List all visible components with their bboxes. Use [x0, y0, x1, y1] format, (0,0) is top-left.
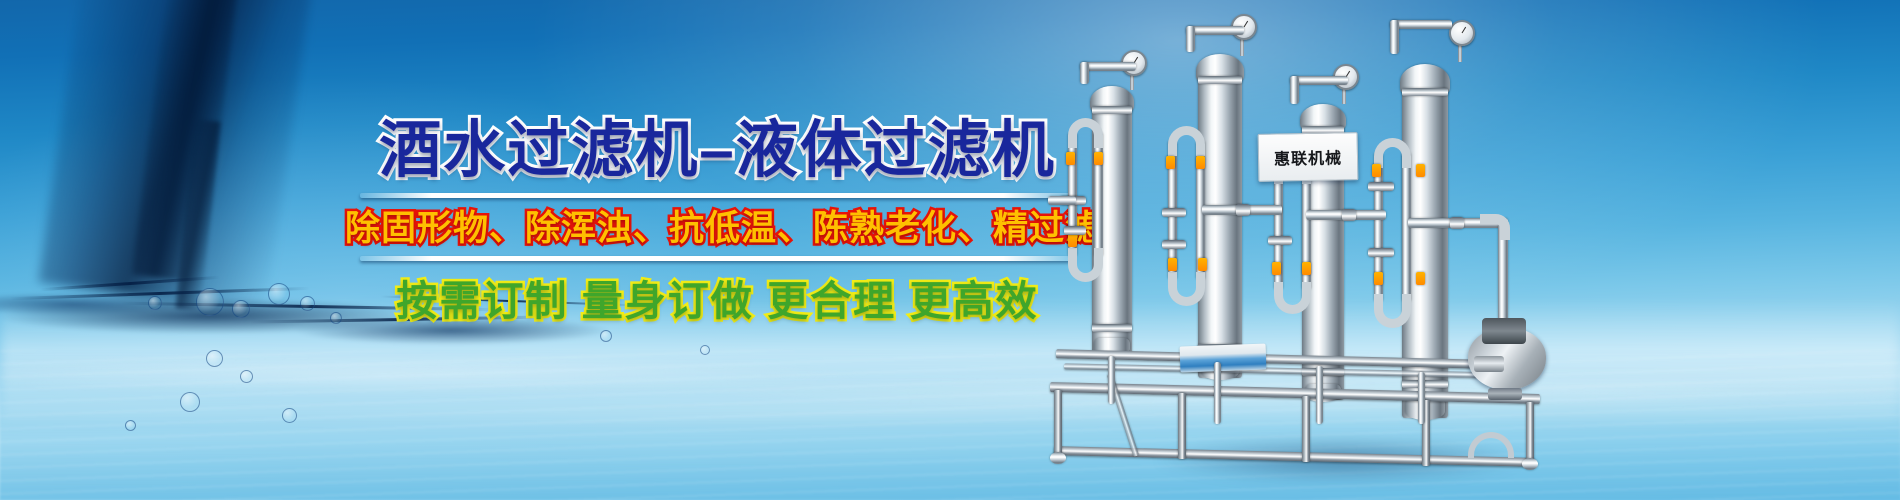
valve-orange-12	[1374, 272, 1383, 285]
valve-orange-13	[1416, 272, 1425, 285]
pump-motor	[1482, 318, 1526, 344]
pump-feed-elbow	[1480, 214, 1510, 240]
pipe-clamp-4	[1162, 240, 1186, 249]
drain-pipe-2	[1214, 362, 1221, 424]
banner-title: 酒水过滤机–液体过滤机	[345, 118, 1090, 184]
caster-2	[1522, 458, 1538, 470]
frame-bottom-rail	[1054, 446, 1534, 467]
bubble-decor	[600, 330, 612, 342]
drain-pipe-1	[1108, 356, 1115, 404]
frame-front-rail	[1050, 382, 1540, 404]
u-bend-1-top	[1068, 118, 1103, 148]
valve-orange-4	[1166, 156, 1175, 169]
u-bend-1-right	[1094, 132, 1103, 257]
pipe-clamp-6	[1368, 182, 1394, 191]
valve-orange-11	[1416, 164, 1425, 177]
pipe-clamp-7	[1368, 248, 1394, 257]
divider-under-title	[360, 193, 1075, 198]
bubble-decor	[232, 300, 250, 318]
bubble-decor	[268, 283, 290, 305]
promo-banner: 酒水过滤机–液体过滤机 除固形物、除浑浊、抗低温、陈熟老化、精过滤 按需订制 量…	[0, 0, 1900, 500]
pump-drain-loop	[1468, 432, 1514, 458]
manifold-clamp-3	[1450, 217, 1464, 229]
vessel-1-riser	[1080, 62, 1089, 84]
u-bend-1-bottom	[1068, 248, 1103, 282]
manifold-clamp-1	[1236, 204, 1250, 216]
frame-leg-5	[1526, 402, 1534, 464]
pipe-clamp-2	[1064, 226, 1086, 235]
valve-orange-9	[1302, 262, 1311, 275]
pipe-clamp-3	[1162, 208, 1186, 217]
pipe-clamp-5	[1268, 236, 1292, 245]
pump-base-mount	[1488, 388, 1522, 400]
frame-leg-2	[1178, 393, 1186, 459]
bubble-decor	[180, 392, 200, 412]
bubble-decor	[700, 345, 710, 355]
vessel-4-riser	[1390, 20, 1399, 54]
u-bend-2-top	[1168, 126, 1205, 156]
bubble-decor	[330, 312, 342, 324]
filtration-machine-photo: 惠联机械	[1050, 0, 1610, 500]
brand-label-plate: 惠联机械	[1258, 132, 1359, 182]
equipment-sticker	[1180, 344, 1267, 373]
bubble-decor	[196, 288, 224, 316]
bubble-decor	[300, 296, 315, 311]
banner-text-block: 酒水过滤机–液体过滤机 除固形物、除浑浊、抗低温、陈熟老化、精过滤 按需订制 量…	[345, 118, 1090, 324]
drain-pipe-3	[1316, 366, 1323, 424]
manifold-clamp-2	[1342, 209, 1356, 221]
frame-leg-3	[1302, 396, 1310, 462]
valve-orange-10	[1372, 164, 1381, 177]
bubble-decor	[125, 420, 136, 431]
vessel-4-top-pipe	[1390, 20, 1452, 29]
valve-orange-5	[1196, 156, 1205, 169]
bubble-decor	[282, 408, 297, 423]
valve-orange-2	[1094, 152, 1103, 165]
valve-orange-8	[1272, 262, 1281, 275]
caster-1	[1050, 452, 1066, 464]
bubble-decor	[148, 296, 162, 310]
bubble-decor	[240, 370, 253, 383]
valve-orange-7	[1198, 258, 1207, 271]
divider-under-subtitle	[360, 256, 1075, 261]
vessel-2-riser	[1186, 26, 1195, 52]
valve-orange-1	[1066, 152, 1075, 165]
valve-orange-6	[1168, 258, 1177, 271]
banner-title-text: 酒水过滤机–液体过滤机	[379, 118, 1055, 184]
drain-pipe-4	[1418, 372, 1425, 424]
bubble-decor	[206, 350, 223, 367]
valve-orange-3	[1068, 234, 1077, 247]
brand-label-text: 惠联机械	[1274, 144, 1342, 169]
side-outlet-1	[1048, 196, 1076, 205]
frame-leg-1	[1054, 390, 1062, 456]
water-bottom-ripple	[0, 350, 1900, 500]
vessel-3-riser	[1290, 76, 1299, 104]
pump-outlet	[1474, 356, 1504, 372]
pressure-gauge-4	[1449, 20, 1475, 46]
banner-tagline: 按需订制 量身订做 更合理 更高效	[345, 279, 1090, 324]
banner-subtitle: 除固形物、除浑浊、抗低温、陈熟老化、精过滤	[345, 210, 1090, 249]
